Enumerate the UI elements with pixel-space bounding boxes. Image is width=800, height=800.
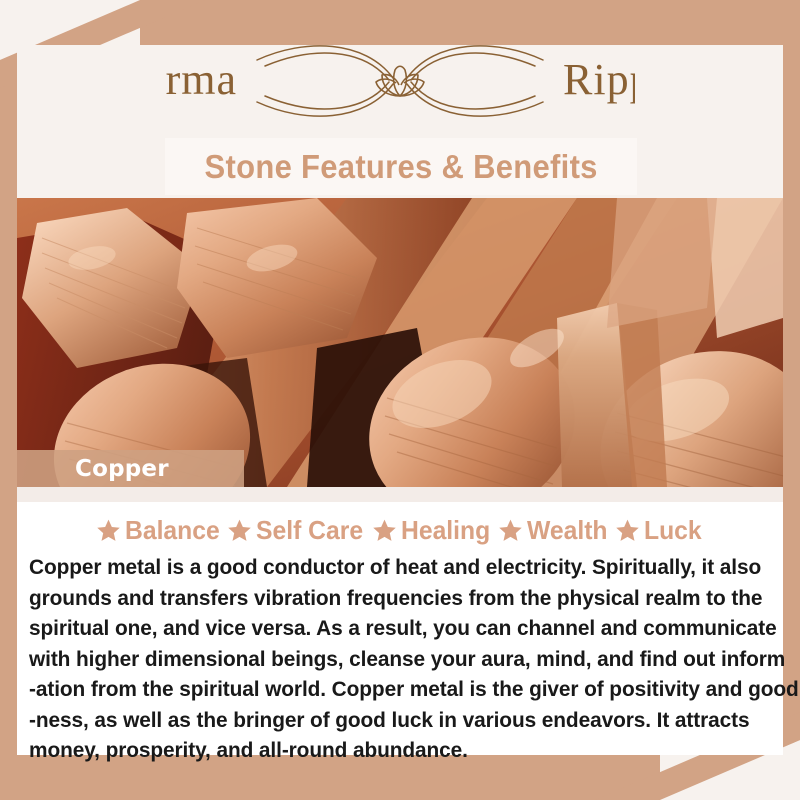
page-title: Stone Features & Benefits: [204, 148, 597, 186]
description-line: money, prosperity, and all-round abundan…: [29, 735, 755, 766]
description-line: -ation from the spiritual world. Copper …: [29, 674, 755, 705]
benefit-label: Balance: [125, 515, 220, 546]
description-panel: Balance Self Care Healing Wealth: [17, 502, 783, 755]
photo-image: [17, 198, 783, 487]
karma-ripple-logo-icon: Karma Ripple: [165, 32, 635, 128]
star-icon: [96, 518, 121, 543]
benefit-item: Healing: [372, 515, 495, 546]
stone-name: Copper: [75, 456, 169, 482]
benefit-item: Self Care: [227, 515, 369, 546]
copper-rods-photo: [17, 198, 783, 487]
logo-word-right: Ripple: [563, 55, 635, 104]
star-icon: [498, 518, 523, 543]
infographic-root: Karma Ripple: [0, 0, 800, 800]
benefit-label: Luck: [644, 515, 702, 546]
brand-logo: Karma Ripple: [17, 30, 783, 130]
benefit-item: Wealth: [498, 515, 612, 546]
logo-word-left: Karma: [165, 55, 237, 104]
description-line: -ness, as well as the bringer of good lu…: [29, 705, 755, 736]
description-text: Copper metal is a good conductor of heat…: [29, 552, 777, 766]
description-line: with higher dimensional beings, cleanse …: [29, 644, 755, 675]
description-line: spiritual one, and vice versa. As a resu…: [29, 613, 755, 644]
description-line: Copper metal is a good conductor of heat…: [29, 552, 755, 583]
divider-band: [17, 487, 783, 502]
description-line: grounds and transfers vibration frequenc…: [29, 583, 755, 614]
benefit-item: Luck: [615, 515, 705, 546]
benefits-row: Balance Self Care Healing Wealth: [17, 510, 783, 550]
benefit-label: Self Care: [256, 515, 363, 546]
star-icon: [615, 518, 640, 543]
benefit-label: Wealth: [527, 515, 608, 546]
benefit-item: Balance: [96, 515, 225, 546]
benefit-label: Healing: [401, 515, 490, 546]
section-title-banner: Stone Features & Benefits: [165, 138, 637, 195]
star-icon: [372, 518, 397, 543]
star-icon: [227, 518, 252, 543]
stone-name-bar: Copper: [17, 450, 244, 487]
